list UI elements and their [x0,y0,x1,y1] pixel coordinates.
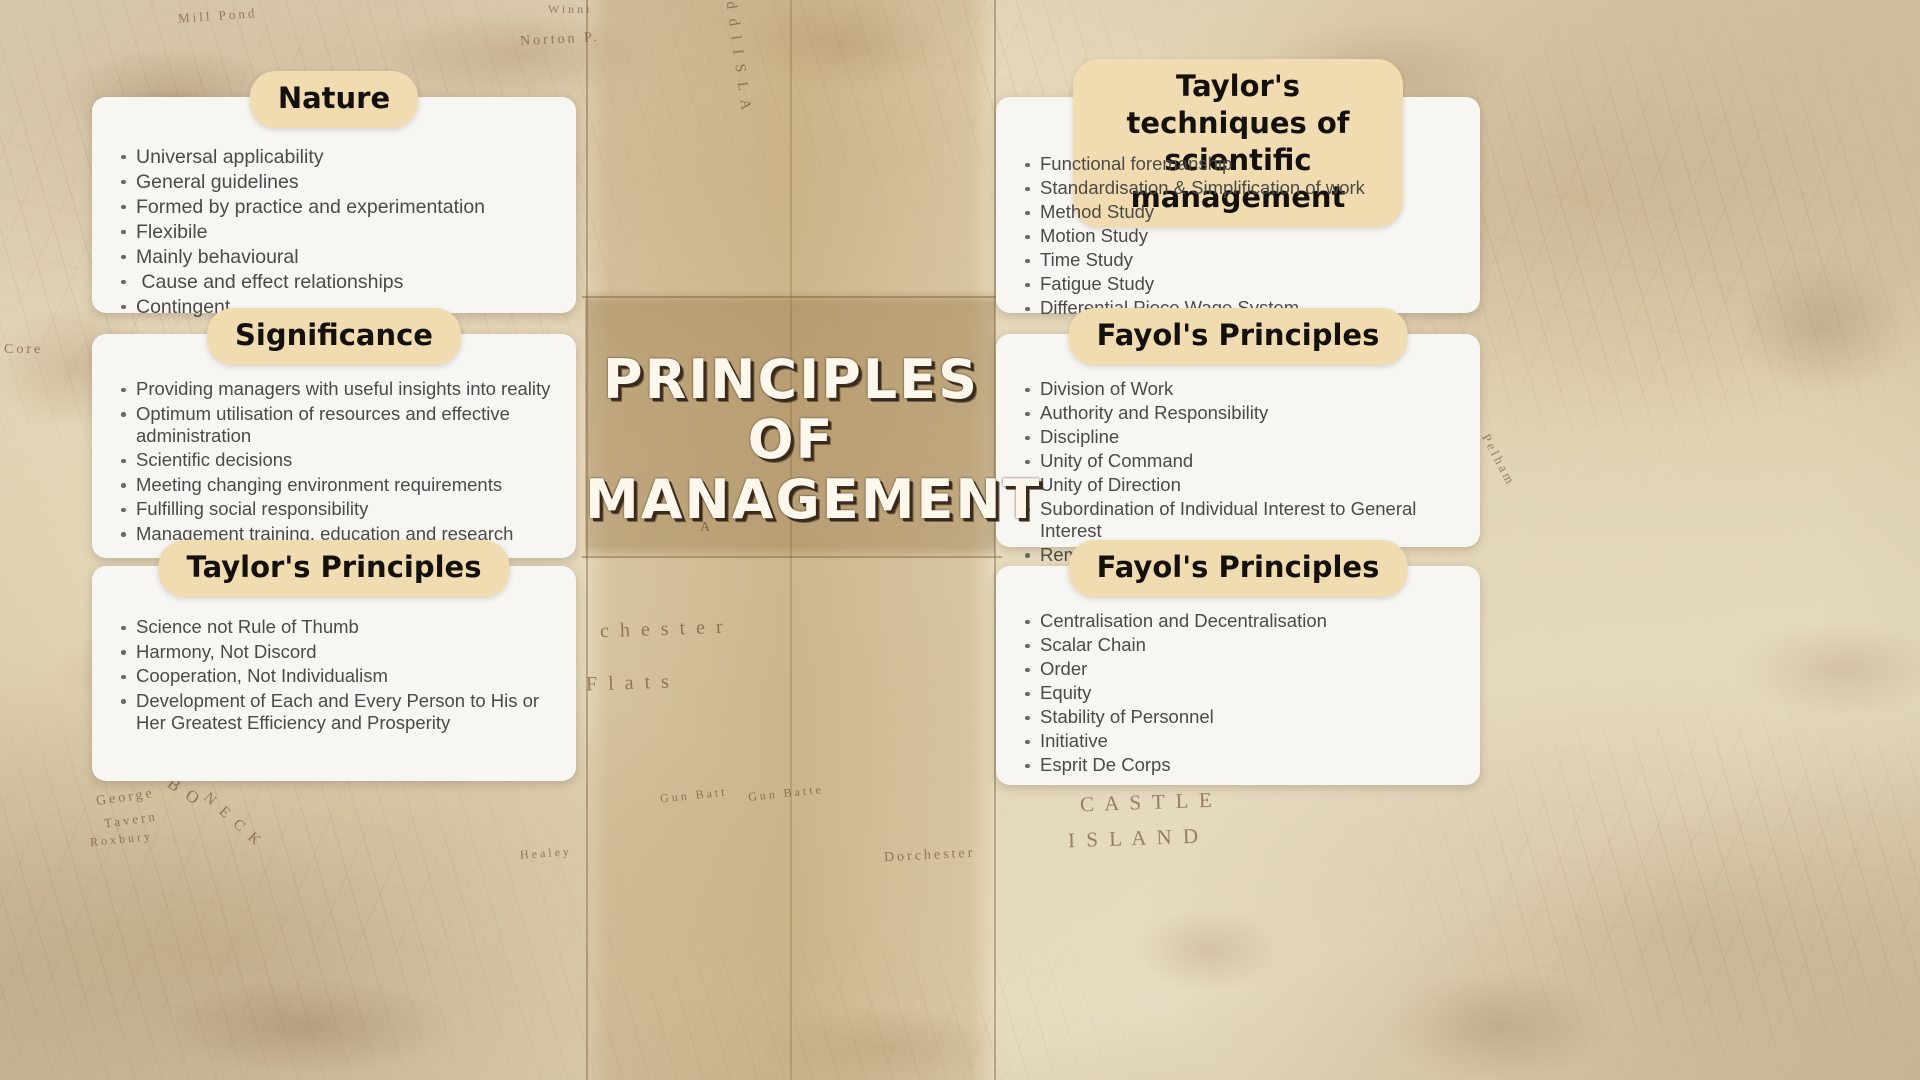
card-body-significance: Providing managers with useful insights … [92,334,576,565]
list-item: Harmony, Not Discord [116,641,552,663]
card-fayol-principles-two: Fayol's Principles Centralisation and De… [996,566,1480,785]
card-header-taylor-principles: Taylor's Principles [159,540,510,597]
bullet-list-significance: Providing managers with useful insights … [116,378,552,545]
list-item: Division of Work [1020,378,1456,400]
card-header-nature: Nature [250,71,418,128]
page-title-line-1: PRINCIPLES [585,350,997,410]
list-item: Fulfilling social responsibility [116,498,552,520]
card-nature: Nature Universal applicabilityGeneral gu… [92,97,576,313]
card-taylor-techniques: Taylor's techniques of scientific manage… [996,97,1480,313]
list-item: Cooperation, Not Individualism [116,665,552,687]
card-header-label: Significance [235,317,433,354]
list-item: General guidelines [116,170,552,194]
bullet-list-taylor-techniques: Functional foremanshipStandardisation & … [1020,153,1456,319]
bullet-list-fayol-one: Division of WorkAuthority and Responsibi… [1020,378,1456,565]
list-item: Mainly behavioural [116,245,552,269]
list-item: Universal applicability [116,145,552,169]
list-item: Scalar Chain [1020,634,1456,656]
card-header-label: Nature [278,80,390,117]
page-title-line-2: OF [585,410,997,470]
list-item: Providing managers with useful insights … [116,378,552,400]
page-title: PRINCIPLES OF MANAGEMENT [585,350,997,530]
card-significance: Significance Providing managers with use… [92,334,576,558]
card-header-label: Taylor's Principles [187,549,482,586]
bullet-list-fayol-two: Centralisation and DecentralisationScala… [1020,610,1456,776]
list-item: Centralisation and Decentralisation [1020,610,1456,632]
list-item: Unity of Direction [1020,474,1456,496]
list-item: Time Study [1020,249,1456,271]
list-item: Method Study [1020,201,1456,223]
card-header-significance: Significance [207,308,461,365]
card-taylor-principles: Taylor's Principles Science not Rule of … [92,566,576,781]
card-header-fayol-one: Fayol's Principles [1069,308,1408,365]
list-item: Equity [1020,682,1456,704]
list-item: Cause and effect relationships [116,270,552,294]
card-body-nature: Universal applicabilityGeneral guideline… [92,97,576,338]
list-item: Discipline [1020,426,1456,448]
list-item: Esprit De Corps [1020,754,1456,776]
list-item: Subordination of Individual Interest to … [1020,498,1456,541]
list-item: Stability of Personnel [1020,706,1456,728]
list-item: Meeting changing environment requirement… [116,474,552,496]
card-header-label: Fayol's Principles [1097,317,1380,354]
list-item: Standardisation & Simplification of work [1020,177,1456,199]
card-header-label: Fayol's Principles [1097,549,1380,586]
list-item: Motion Study [1020,225,1456,247]
list-item: Formed by practice and experimentation [116,195,552,219]
bullet-list-taylor-principles: Science not Rule of ThumbHarmony, Not Di… [116,616,552,734]
list-item: Initiative [1020,730,1456,752]
page-title-line-3: MANAGEMENT [585,470,997,530]
list-item: Development of Each and Every Person to … [116,690,552,734]
list-item: Optimum utilisation of resources and eff… [116,403,552,447]
bullet-list-nature: Universal applicabilityGeneral guideline… [116,145,552,319]
list-item: Flexibile [116,220,552,244]
card-fayol-principles-one: Fayol's Principles Division of WorkAutho… [996,334,1480,547]
list-item: Science not Rule of Thumb [116,616,552,638]
list-item: Functional foremanship [1020,153,1456,175]
list-item: Order [1020,658,1456,680]
list-item: Fatigue Study [1020,273,1456,295]
card-body-fayol-two: Centralisation and DecentralisationScala… [996,566,1480,796]
card-header-fayol-two: Fayol's Principles [1069,540,1408,597]
list-item: Scientific decisions [116,449,552,471]
list-item: Unity of Command [1020,450,1456,472]
list-item: Authority and Responsibility [1020,402,1456,424]
